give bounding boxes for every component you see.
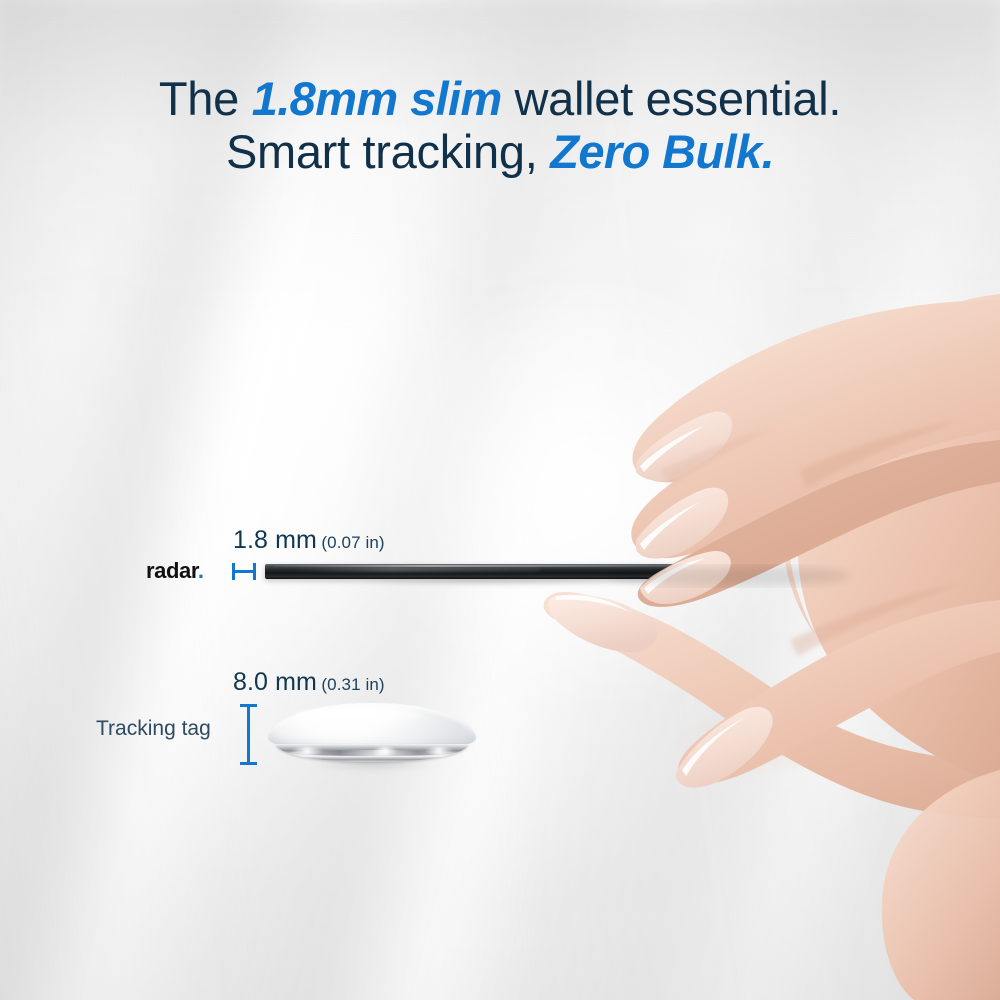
brand-dot: . xyxy=(198,558,204,583)
tracking-tag-label: Tracking tag xyxy=(96,717,211,741)
card-dimension-callout: 1.8 mm (0.07 in) xyxy=(233,526,385,555)
headline-line-1-accent: 1.8mm slim xyxy=(252,72,502,125)
card-thickness-caliper-icon xyxy=(232,563,256,579)
headline-line-1: The 1.8mm slim wallet essential. xyxy=(0,72,1000,125)
tag-ring-specular-1 xyxy=(290,747,324,755)
caliper-bar xyxy=(247,704,250,765)
card-dimension-imperial: (0.07 in) xyxy=(321,533,384,552)
tag-dome-highlight xyxy=(293,708,422,724)
caliper-bottom-cap xyxy=(240,762,257,765)
brand-name: radar xyxy=(146,558,198,583)
ad-canvas: The 1.8mm slim wallet essential. Smart t… xyxy=(0,0,1000,1000)
tag-dimension-value: 8.0 mm xyxy=(233,668,317,696)
card-dimension-value: 1.8 mm xyxy=(233,526,317,554)
slim-tracker-card xyxy=(265,564,723,579)
card-drop-shadow xyxy=(300,579,700,589)
tag-height-caliper-icon xyxy=(240,704,257,765)
headline-line-2-accent: Zero Bulk. xyxy=(550,125,774,178)
tag-dimension-imperial: (0.31 in) xyxy=(321,675,384,694)
tag-dimension-callout: 8.0 mm (0.31 in) xyxy=(233,668,385,697)
tag-ring-specular-2 xyxy=(372,747,398,755)
tag-ring-specular-3 xyxy=(424,747,454,755)
headline-line-1-prefix: The xyxy=(159,72,252,125)
headline-line-2: Smart tracking, Zero Bulk. xyxy=(0,125,1000,178)
card-sheen xyxy=(292,567,539,572)
headline: The 1.8mm slim wallet essential. Smart t… xyxy=(0,72,1000,178)
caliper-right-cap xyxy=(253,563,256,580)
brand-logo: radar. xyxy=(146,558,204,584)
headline-line-1-suffix: wallet essential. xyxy=(502,72,841,125)
tracking-tag-product xyxy=(268,703,476,767)
headline-line-2-prefix: Smart tracking, xyxy=(226,125,550,178)
